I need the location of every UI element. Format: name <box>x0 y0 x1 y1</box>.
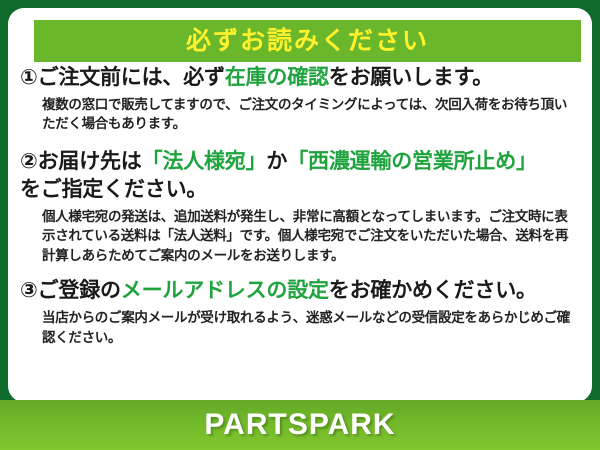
notice-card: 必ずお読みください ①ご注文前には、必ず在庫の確認をお願いします。 複数の窓口で… <box>0 0 600 450</box>
notice-item-2: ②お届け先は「法人様宛」か「西濃運輸の営業所止め」 をご指定ください。 個人様宅… <box>20 148 580 266</box>
item-1-description: 複数の窓口で販売してますので、ご注文のタイミングによっては、次回入荷をお待ち頂い… <box>42 95 580 134</box>
item-1-heading: ①ご注文前には、必ず在庫の確認をお願いします。 <box>20 64 580 93</box>
spacer-1 <box>20 136 580 148</box>
item-3-text-a: ご登録の <box>38 279 121 302</box>
item-3-heading: ③ご登録のメールアドレスの設定をお確かめください。 <box>20 277 580 306</box>
item-3-text-b: をお確かめください。 <box>329 279 537 302</box>
item-2-text-a: お届け先は <box>38 150 142 173</box>
spacer-2 <box>20 267 580 277</box>
item-3-description: 当店からのご案内メールが受け取れるよう、迷惑メールなどの受信設定をあらかじめご確… <box>42 308 580 347</box>
item-3-number: ③ <box>20 279 38 302</box>
item-3-emphasis: メールアドレスの設定 <box>121 279 329 302</box>
notice-body: ①ご注文前には、必ず在庫の確認をお願いします。 複数の窓口で販売してますので、ご… <box>8 64 592 349</box>
banner-title: 必ずお読みください <box>186 29 429 54</box>
item-1-text-a: ご注文前には、必ず <box>38 66 225 89</box>
item-1-emphasis: 在庫の確認 <box>225 66 329 89</box>
item-2-emphasis-1: 「法人様宛」 <box>142 150 267 173</box>
notice-panel: 必ずお読みください ①ご注文前には、必ず在庫の確認をお願いします。 複数の窓口で… <box>8 8 592 402</box>
item-1-number: ① <box>20 66 38 89</box>
notice-item-3: ③ご登録のメールアドレスの設定をお確かめください。 当店からのご案内メールが受け… <box>20 277 580 347</box>
item-1-text-b: をお願いします。 <box>329 66 493 89</box>
item-2-description: 個人様宅宛の発送は、追加送料が発生し、非常に高額となってしまいます。ご注文時に表… <box>42 207 580 266</box>
item-2-heading-line2: をご指定ください。 <box>20 176 580 205</box>
footer-logo-band: PARTSPARK <box>0 400 600 450</box>
notice-banner: 必ずお読みください <box>34 20 581 62</box>
notice-item-1: ①ご注文前には、必ず在庫の確認をお願いします。 複数の窓口で販売してますので、ご… <box>20 64 580 134</box>
item-2-number: ② <box>20 150 38 173</box>
item-2-text-b: か <box>266 150 287 173</box>
brand-logo: PARTSPARK <box>204 410 395 440</box>
item-2-heading-line1: ②お届け先は「法人様宛」か「西濃運輸の営業所止め」 <box>20 148 580 177</box>
item-2-emphasis-2: 「西濃運輸の営業所止め」 <box>287 150 537 173</box>
